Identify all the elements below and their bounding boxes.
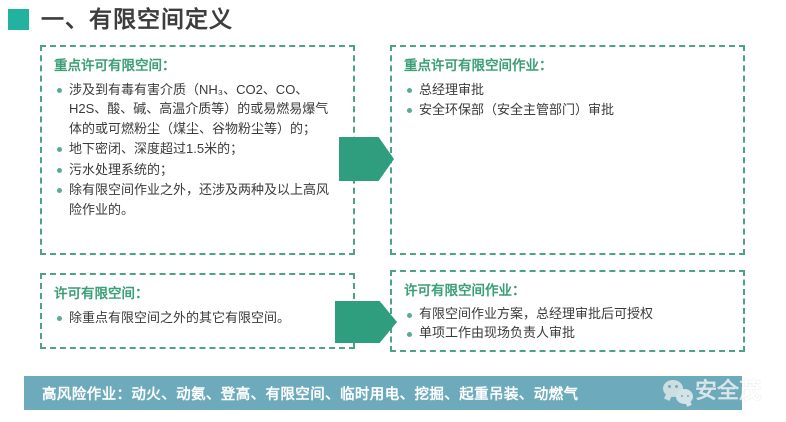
panel-heading: 许可有限空间： — [54, 285, 341, 303]
page-title: 一、有限空间定义 — [41, 8, 233, 31]
list-item: 总经理审批 — [404, 80, 731, 100]
panel-heading: 许可有限空间作业： — [404, 282, 731, 300]
bullet-list: 总经理审批 安全环保部（安全主管部门）审批 — [404, 80, 731, 120]
panel-permit-confined-space-work: 许可有限空间作业： 有限空间作业方案，总经理审批后可授权 单项工作由现场负责人审… — [390, 270, 745, 352]
panel-heading: 重点许可有限空间： — [54, 57, 341, 75]
list-item: 除重点有限空间之外的其它有限空间。 — [54, 308, 341, 328]
arrow-right-icon — [339, 137, 394, 181]
panel-permit-confined-space: 许可有限空间： 除重点有限空间之外的其它有限空间。 — [40, 273, 355, 349]
list-item: 有限空间作业方案，总经理审批后可授权 — [404, 305, 731, 324]
high-risk-work-banner-text: 高风险作业：动火、动氨、登高、有限空间、临时用电、挖掘、起重吊装、动燃气 — [24, 383, 578, 404]
list-item: 除有限空间作业之外，还涉及两种及以上高风险作业的。 — [54, 180, 341, 219]
page-title-bar: 一、有限空间定义 — [0, 2, 786, 36]
list-item: 地下密闭、深度超过1.5米的； — [54, 139, 341, 159]
list-item: 涉及到有毒有害介质（NH₃、CO2、CO、H2S、酸、碱、高温介质等）的或易燃易… — [54, 80, 341, 139]
high-risk-work-banner: 高风险作业：动火、动氨、登高、有限空间、临时用电、挖掘、起重吊装、动燃气 — [24, 376, 742, 410]
panel-key-permit-confined-space-work: 重点许可有限空间作业： 总经理审批 安全环保部（安全主管部门）审批 — [390, 45, 745, 255]
list-item: 单项工作由现场负责人审批 — [404, 324, 731, 343]
bullet-list: 涉及到有毒有害介质（NH₃、CO2、CO、H2S、酸、碱、高温介质等）的或易燃易… — [54, 80, 341, 220]
bullet-list: 有限空间作业方案，总经理审批后可授权 单项工作由现场负责人审批 — [404, 305, 731, 344]
bullet-list: 除重点有限空间之外的其它有限空间。 — [54, 308, 341, 328]
list-item: 污水处理系统的； — [54, 160, 341, 180]
panel-heading: 重点许可有限空间作业： — [404, 57, 731, 75]
panel-key-permit-confined-space: 重点许可有限空间： 涉及到有毒有害介质（NH₃、CO2、CO、H2S、酸、碱、高… — [40, 45, 355, 255]
arrow-right-icon — [335, 301, 397, 343]
title-marker-square — [8, 9, 29, 30]
list-item: 安全环保部（安全主管部门）审批 — [404, 100, 731, 120]
